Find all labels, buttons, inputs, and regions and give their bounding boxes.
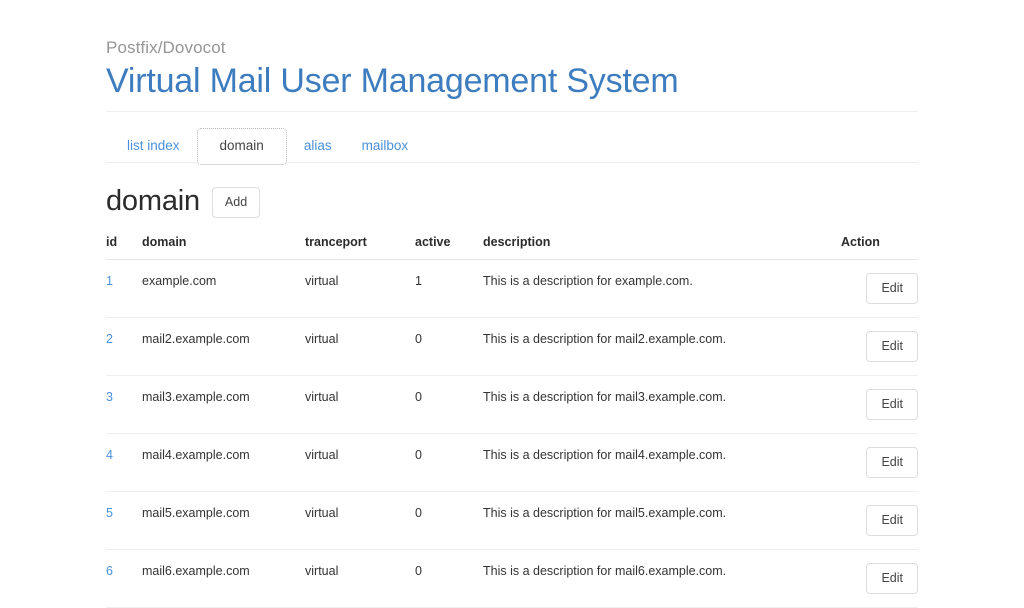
table-row: 4 mail4.example.com virtual 0 This is a … (106, 434, 918, 492)
table-row: 3 mail3.example.com virtual 0 This is a … (106, 376, 918, 434)
cell-domain: mail6.example.com (142, 550, 305, 608)
cell-description: This is a description for example.com. (483, 260, 841, 318)
cell-active: 0 (415, 318, 483, 376)
edit-button[interactable]: Edit (866, 389, 918, 420)
cell-tranceport: virtual (305, 318, 415, 376)
edit-button[interactable]: Edit (866, 273, 918, 304)
row-id-link[interactable]: 2 (106, 332, 113, 346)
cell-tranceport: virtual (305, 550, 415, 608)
add-button[interactable]: Add (212, 187, 260, 218)
cell-description: This is a description for mail2.example.… (483, 318, 841, 376)
cell-domain: mail3.example.com (142, 376, 305, 434)
page-container: Postfix/Dovocot Virtual Mail User Manage… (106, 0, 918, 608)
tab-list-index[interactable]: list index (112, 128, 195, 165)
table-row: 1 example.com virtual 1 This is a descri… (106, 260, 918, 318)
cell-domain: mail5.example.com (142, 492, 305, 550)
cell-action: Edit (841, 260, 918, 318)
cell-tranceport: virtual (305, 492, 415, 550)
cell-domain: example.com (142, 260, 305, 318)
cell-description: This is a description for mail4.example.… (483, 434, 841, 492)
edit-button[interactable]: Edit (866, 447, 918, 478)
cell-description: This is a description for mail3.example.… (483, 376, 841, 434)
cell-tranceport: virtual (305, 376, 415, 434)
cell-active: 0 (415, 550, 483, 608)
edit-button[interactable]: Edit (866, 563, 918, 594)
column-header-tranceport: tranceport (305, 235, 415, 260)
cell-id: 3 (106, 376, 142, 434)
column-header-domain: domain (142, 235, 305, 260)
cell-tranceport: virtual (305, 434, 415, 492)
column-header-action: Action (841, 235, 918, 260)
column-header-description: description (483, 235, 841, 260)
cell-action: Edit (841, 434, 918, 492)
page-title: Virtual Mail User Management System (106, 60, 918, 102)
tab-domain[interactable]: domain (197, 128, 287, 165)
column-header-id: id (106, 235, 142, 260)
table-row: 6 mail6.example.com virtual 0 This is a … (106, 550, 918, 608)
cell-action: Edit (841, 492, 918, 550)
row-id-link[interactable]: 1 (106, 274, 113, 288)
column-header-active: active (415, 235, 483, 260)
cell-id: 4 (106, 434, 142, 492)
cell-id: 2 (106, 318, 142, 376)
domain-table: id domain tranceport active description … (106, 235, 918, 608)
cell-description: This is a description for mail6.example.… (483, 550, 841, 608)
cell-action: Edit (841, 376, 918, 434)
section-header: domain Add (106, 183, 918, 218)
tab-mailbox[interactable]: mailbox (347, 128, 424, 165)
table-header-row: id domain tranceport active description … (106, 235, 918, 260)
page-subtitle: Postfix/Dovocot (106, 38, 918, 58)
page-header: Postfix/Dovocot Virtual Mail User Manage… (106, 38, 918, 112)
cell-id: 5 (106, 492, 142, 550)
cell-action: Edit (841, 318, 918, 376)
row-id-link[interactable]: 6 (106, 564, 113, 578)
row-id-link[interactable]: 5 (106, 506, 113, 520)
row-id-link[interactable]: 3 (106, 390, 113, 404)
cell-id: 6 (106, 550, 142, 608)
cell-active: 1 (415, 260, 483, 318)
table-body: 1 example.com virtual 1 This is a descri… (106, 260, 918, 608)
row-id-link[interactable]: 4 (106, 448, 113, 462)
tab-alias[interactable]: alias (289, 128, 347, 165)
cell-action: Edit (841, 550, 918, 608)
section-title: domain (106, 184, 200, 218)
cell-tranceport: virtual (305, 260, 415, 318)
edit-button[interactable]: Edit (866, 505, 918, 536)
tab-bar: list index domain alias mailbox (106, 128, 918, 163)
cell-description: This is a description for mail5.example.… (483, 492, 841, 550)
table-row: 5 mail5.example.com virtual 0 This is a … (106, 492, 918, 550)
cell-active: 0 (415, 434, 483, 492)
table-row: 2 mail2.example.com virtual 0 This is a … (106, 318, 918, 376)
cell-domain: mail2.example.com (142, 318, 305, 376)
cell-active: 0 (415, 376, 483, 434)
cell-active: 0 (415, 492, 483, 550)
table-header: id domain tranceport active description … (106, 235, 918, 260)
cell-domain: mail4.example.com (142, 434, 305, 492)
cell-id: 1 (106, 260, 142, 318)
edit-button[interactable]: Edit (866, 331, 918, 362)
